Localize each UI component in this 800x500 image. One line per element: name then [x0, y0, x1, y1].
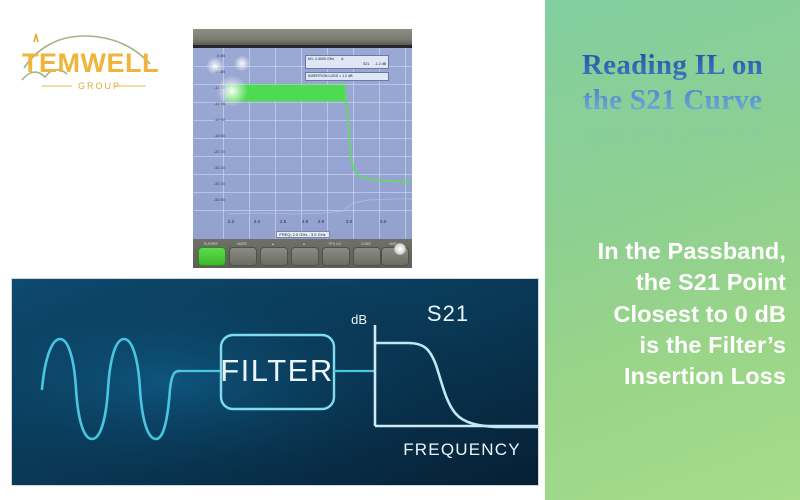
marker-param: S21: [363, 62, 369, 66]
softkey-label: ▲: [302, 242, 305, 246]
body-copy: In the Passband, the S21 Point Closest t…: [558, 236, 786, 392]
logo-wordmark: TEMWELL: [22, 48, 159, 78]
body-line: the S21 Point: [558, 267, 786, 298]
body-line: Closest to 0 dB: [558, 299, 786, 330]
headline-reflect-line2: the S21 Curve: [545, 119, 800, 154]
slide-root: TEMWELL GROUP: [0, 0, 800, 500]
marker-delta-icon: Δ: [341, 57, 343, 61]
softkey-label: MORE: [237, 242, 247, 246]
x-tick: 2.4: [254, 219, 260, 224]
x-tick: 2.2: [228, 219, 234, 224]
softkey-button-up-1[interactable]: [260, 247, 288, 266]
x-tick: 2.8: [302, 219, 308, 224]
headline-reflection: Reading IL on the S21 Curve: [545, 119, 800, 190]
filter-block-label: FILTER: [220, 353, 334, 388]
temwell-logo: TEMWELL GROUP: [14, 22, 174, 92]
logo-mark: TEMWELL GROUP: [14, 22, 174, 92]
freq-span-readout: FREQ: 2.0 GHz - 3.0 GHz: [275, 231, 329, 238]
x-tick: 3.0: [346, 219, 352, 224]
softkey-button-rtn-lvl[interactable]: [322, 247, 350, 266]
softkey-button-run-ref[interactable]: [198, 247, 226, 266]
softkey-button-more[interactable]: [229, 247, 257, 266]
response-curve-label: S21: [427, 301, 469, 326]
insertion-loss-readout: INSERTION LOSS = 1.2 dB: [305, 72, 389, 81]
marker-value: -1.2 dB: [374, 62, 386, 66]
filter-diagram-panel: FILTER dB S21 FREQUENCY: [11, 278, 539, 486]
response-y-axis-label: dB: [351, 312, 367, 327]
x-tick: 3.0: [380, 219, 386, 224]
softkey-label: RTN LVL: [329, 242, 342, 246]
softkey-button-coniz[interactable]: [353, 247, 381, 266]
vna-softkey-row: RUN/REF MORE ▲ ▲ RTN LVL CONIZ MKR: [193, 239, 412, 268]
softkey-label: CONIZ: [361, 242, 371, 246]
softkey-label: ▲: [271, 242, 274, 246]
softkey-label: RUN/REF: [204, 242, 218, 246]
logo-subtitle: GROUP: [78, 81, 121, 91]
filter-diagram-svg: FILTER dB S21 FREQUENCY: [12, 279, 538, 485]
body-line: In the Passband,: [558, 236, 786, 267]
page-title: Reading IL on the S21 Curve: [545, 48, 800, 119]
marker-label: M1: 2.4000 GHz: [308, 57, 334, 61]
body-line: Insertion Loss: [558, 361, 786, 392]
headline-line-1: Reading IL on: [545, 48, 800, 83]
right-content-panel: Reading IL on the S21 Curve Reading IL o…: [545, 0, 800, 500]
softkey-button-up-2[interactable]: [291, 247, 319, 266]
x-tick: 2.6: [280, 219, 286, 224]
headline-reflect-line1: Reading IL on: [545, 154, 800, 189]
vna-screenshot: 0 dB -11 dB -11 70 -11 78 -12 60 -10 60 …: [193, 29, 412, 268]
x-tick: 2.8: [318, 219, 324, 224]
vna-top-bezel: [193, 29, 412, 48]
vna-x-axis-labels: 2.2 2.4 2.6 2.8 2.8 3.0 3.0: [193, 219, 412, 227]
logo-spark-icon: [34, 34, 38, 42]
response-x-axis-label: FREQUENCY: [403, 440, 521, 459]
body-line: is the Filter’s: [558, 330, 786, 361]
headline-line-2: the S21 Curve: [545, 83, 800, 118]
marker-readout-box: M1: 2.4000 GHz Δ S21 -1.2 dB: [305, 55, 389, 69]
vna-display: 0 dB -11 dB -11 70 -11 78 -12 60 -10 60 …: [193, 48, 412, 239]
